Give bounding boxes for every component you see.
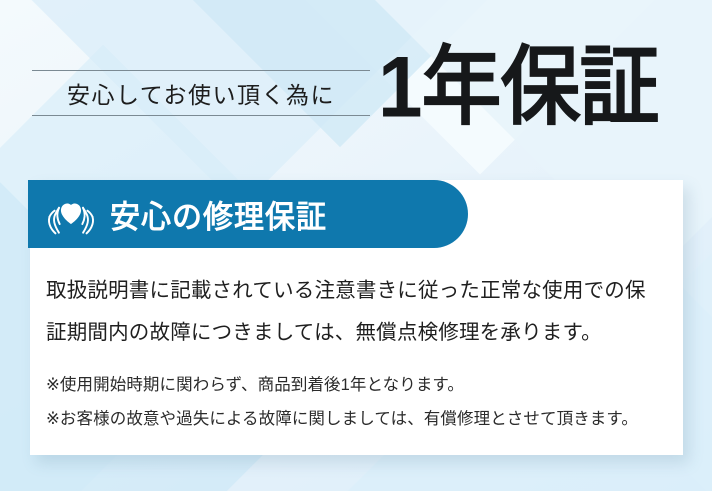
warranty-body-line: 取扱説明書に記載されている注意書きに従った正常な使用での保 — [46, 270, 655, 312]
header: 安心してお使い頂く為に 1年保証 — [0, 0, 712, 170]
warranty-banner-graphic: 安心してお使い頂く為に 1年保証 安心の修理保証 — [0, 0, 712, 491]
warranty-card-body: 取扱説明書に記載されている注意書きに従った正常な使用での保 証期間内の故障につき… — [30, 248, 683, 436]
banner-title: 安心の修理保証 — [110, 191, 327, 237]
warranty-banner-header: 安心の修理保証 — [28, 180, 468, 248]
warranty-note: ※お客様の故意や過失による故障に関しましては、有償修理とさせて頂きます。 — [46, 402, 655, 436]
warranty-notes: ※使用開始時期に関わらず、商品到着後1年となります。 ※お客様の故意や過失による… — [46, 368, 655, 436]
hands-holding-heart-icon — [40, 191, 102, 237]
header-subtitle-rule: 安心してお使い頂く為に — [32, 70, 370, 116]
header-subtitle: 安心してお使い頂く為に — [67, 76, 335, 110]
page-title: 1年保証 — [378, 44, 659, 130]
warranty-body-line: 証期間内の故障につきましては、無償点検修理を承ります。 — [46, 312, 655, 354]
warranty-note: ※使用開始時期に関わらず、商品到着後1年となります。 — [46, 368, 655, 402]
